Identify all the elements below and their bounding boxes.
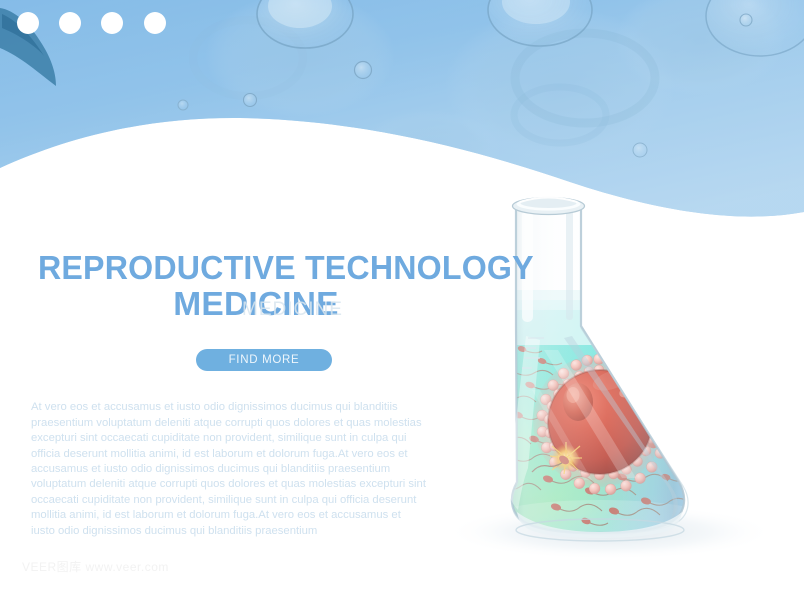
- flask-rim: [513, 197, 585, 214]
- headline-line-1: REPRODUCTIVE TECHNOLOGY: [38, 251, 472, 287]
- find-more-button[interactable]: FIND MORE: [196, 349, 332, 371]
- flask-illustration: [440, 140, 804, 570]
- droplet-small-c: [740, 14, 752, 26]
- decorative-dot-4: [144, 12, 166, 34]
- decorative-dot-3: [101, 12, 123, 34]
- flask-glass: [508, 197, 688, 541]
- headline-group: REPRODUCTIVE TECHNOLOGY MEDICINE MEDICIN…: [38, 251, 490, 323]
- decorative-dot-1: [17, 12, 39, 34]
- droplet-small-a: [355, 62, 372, 79]
- droplet-small-d: [178, 100, 188, 110]
- erlenmeyer-flask-graphic: [440, 140, 804, 570]
- droplet-small-b: [244, 94, 257, 107]
- find-more-label: FIND MORE: [229, 354, 300, 366]
- headline-line-2: MEDICINE MEDICINE: [30, 287, 482, 323]
- decorative-dot-2: [59, 12, 81, 34]
- headline-line-2-text: MEDICINE: [173, 286, 338, 323]
- body-paragraph: At vero eos et accusamus et iusto odio d…: [31, 400, 427, 539]
- stock-watermark: VEER图库 www.veer.com: [22, 558, 169, 575]
- banner-canvas: REPRODUCTIVE TECHNOLOGY MEDICINE MEDICIN…: [0, 0, 804, 590]
